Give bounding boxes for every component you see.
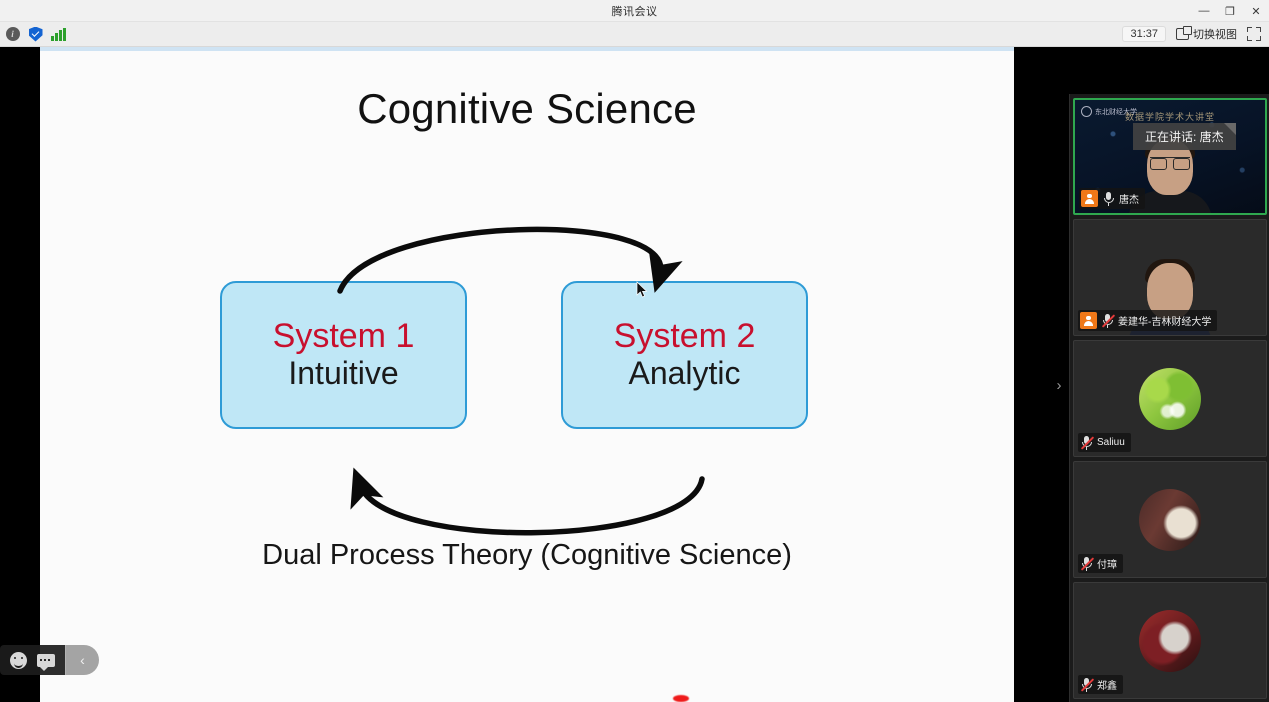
info-icon[interactable]: i [4, 26, 21, 43]
slide-title: Cognitive Science [40, 85, 1014, 133]
emoji-icon[interactable] [10, 652, 27, 669]
participant-tile[interactable]: 姜建华-吉林财经大学 [1073, 219, 1267, 336]
participant-tile[interactable]: 东北财经大学 数据学院学术大讲堂 唐杰 [1073, 98, 1267, 215]
fullscreen-icon[interactable] [1247, 27, 1261, 41]
presentation-slide: Cognitive Science System 1 Intuitive Sys… [40, 47, 1014, 702]
switch-view-icon [1176, 28, 1189, 40]
meeting-timer: 31:37 [1122, 26, 1166, 42]
meeting-window: 腾讯会议 — ❐ ✕ i 31:37 切换视图 [0, 0, 1269, 702]
system-2-subtitle: Analytic [628, 357, 740, 391]
mic-icon [1102, 191, 1115, 206]
participant-name: 付璋 [1097, 556, 1117, 571]
meeting-stage: Cognitive Science System 1 Intuitive Sys… [0, 47, 1269, 702]
collapse-toolbar-button[interactable]: ‹ [65, 645, 99, 675]
participant-tile[interactable]: Saliuu [1073, 340, 1267, 457]
expand-panel-chevron-icon[interactable]: › [1050, 372, 1068, 398]
mouse-cursor-icon [636, 281, 648, 299]
share-toolbar-actions [0, 645, 65, 675]
info-glyph: i [6, 27, 20, 41]
laser-pointer-dot [673, 695, 689, 702]
mic-muted-icon [1080, 677, 1093, 692]
speaking-tooltip: 正在讲话: 唐杰 [1133, 123, 1236, 150]
participant-tile[interactable]: 付璋 [1073, 461, 1267, 578]
avatar [1139, 489, 1201, 551]
avatar [1139, 368, 1201, 430]
share-float-toolbar: ‹ [0, 645, 99, 675]
participant-badge: 郑鑫 [1078, 675, 1123, 694]
cycle-arrows [40, 47, 1014, 702]
mic-muted-icon [1080, 435, 1093, 450]
participant-badge: 付璋 [1078, 554, 1123, 573]
participant-badge: 唐杰 [1079, 188, 1145, 209]
app-title: 腾讯会议 [612, 3, 658, 19]
toolbar-right-controls: 31:37 切换视图 [1122, 26, 1269, 42]
slide-caption: Dual Process Theory (Cognitive Science) [40, 539, 1014, 572]
switch-view-button[interactable]: 切换视图 [1176, 26, 1237, 42]
host-icon [1080, 312, 1097, 329]
host-icon [1081, 190, 1098, 207]
switch-view-label: 切换视图 [1193, 26, 1237, 42]
participant-name: 唐杰 [1119, 191, 1139, 206]
close-button[interactable]: ✕ [1243, 0, 1269, 22]
system-1-heading: System 1 [273, 319, 415, 355]
maximize-button[interactable]: ❐ [1217, 0, 1243, 22]
avatar [1139, 610, 1201, 672]
minimize-button[interactable]: — [1191, 0, 1217, 22]
tooltip-corner-icon [1224, 123, 1236, 135]
mic-muted-icon [1101, 313, 1114, 328]
video-banner-text: 数据学院学术大讲堂 [1075, 110, 1265, 123]
shield-icon[interactable] [27, 26, 44, 43]
participants-panel: 东北财经大学 数据学院学术大讲堂 唐杰 [1069, 94, 1269, 702]
mic-muted-icon [1080, 556, 1093, 571]
window-controls: — ❐ ✕ [1191, 0, 1269, 22]
meeting-toolbar: i 31:37 切换视图 [0, 22, 1269, 47]
shared-screen[interactable]: Cognitive Science System 1 Intuitive Sys… [40, 47, 1014, 702]
speaking-tooltip-text: 正在讲话: 唐杰 [1145, 128, 1224, 145]
chat-bubble-icon[interactable] [37, 654, 55, 667]
participant-badge: Saliuu [1078, 433, 1131, 452]
participant-name: Saliuu [1097, 437, 1125, 448]
participant-badge: 姜建华-吉林财经大学 [1078, 310, 1217, 331]
system-1-subtitle: Intuitive [288, 357, 398, 391]
system-2-box: System 2 Analytic [561, 281, 808, 429]
system-2-heading: System 2 [614, 319, 756, 355]
participant-name: 姜建华-吉林财经大学 [1118, 313, 1211, 328]
toolbar-left-icons: i [0, 26, 67, 43]
title-bar: 腾讯会议 — ❐ ✕ [0, 0, 1269, 22]
signal-bars-icon[interactable] [50, 26, 67, 43]
participant-tile[interactable]: 郑鑫 [1073, 582, 1267, 699]
system-1-box: System 1 Intuitive [220, 281, 467, 429]
participant-name: 郑鑫 [1097, 677, 1117, 692]
